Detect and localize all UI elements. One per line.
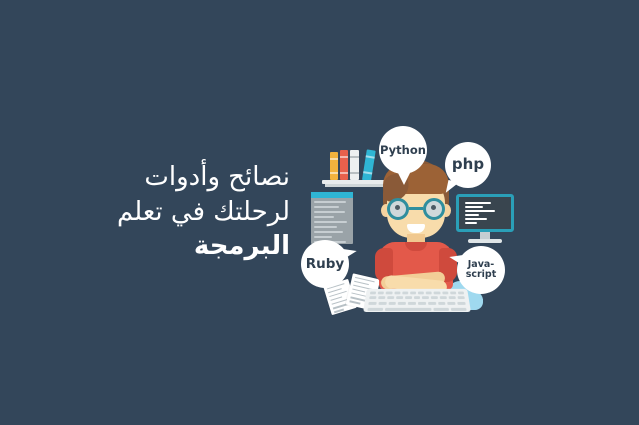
headline-line-2: لرحلتك في تعلم bbox=[40, 195, 290, 230]
bubble-python[interactable]: Python bbox=[379, 126, 427, 174]
document-text-lines bbox=[314, 201, 350, 241]
bubble-python-tail bbox=[397, 171, 411, 185]
bubble-ruby[interactable]: Ruby bbox=[301, 240, 349, 288]
bubble-ruby-label: Ruby bbox=[306, 257, 344, 271]
headline-line-3: البرمجة bbox=[40, 229, 290, 264]
glasses-bridge bbox=[409, 207, 423, 210]
bubble-python-label: Python bbox=[380, 144, 426, 156]
book-red bbox=[340, 150, 348, 180]
document-header-bar bbox=[311, 192, 353, 198]
pupil-left bbox=[395, 205, 400, 210]
bubble-javascript-label-line2: script bbox=[466, 270, 497, 280]
banner-canvas: نصائح وأدوات لرحلتك في تعلم البرمجة bbox=[0, 0, 639, 425]
keyboard-icon bbox=[363, 289, 471, 312]
book-yellow bbox=[330, 152, 338, 180]
code-document-icon bbox=[311, 192, 353, 244]
pupil-right bbox=[431, 205, 436, 210]
glasses-icon bbox=[383, 198, 449, 220]
page-title: نصائح وأدوات لرحلتك في تعلم البرمجة bbox=[40, 160, 290, 264]
bubble-javascript[interactable]: Java- script bbox=[457, 246, 505, 294]
illustration: @ bbox=[295, 112, 535, 327]
bubble-php-label: php bbox=[452, 157, 484, 173]
headline-line-1: نصائح وأدوات bbox=[40, 160, 290, 195]
bubble-php[interactable]: php bbox=[445, 142, 491, 188]
bubble-javascript-tail bbox=[449, 255, 463, 268]
bubble-ruby-tail bbox=[342, 249, 356, 262]
